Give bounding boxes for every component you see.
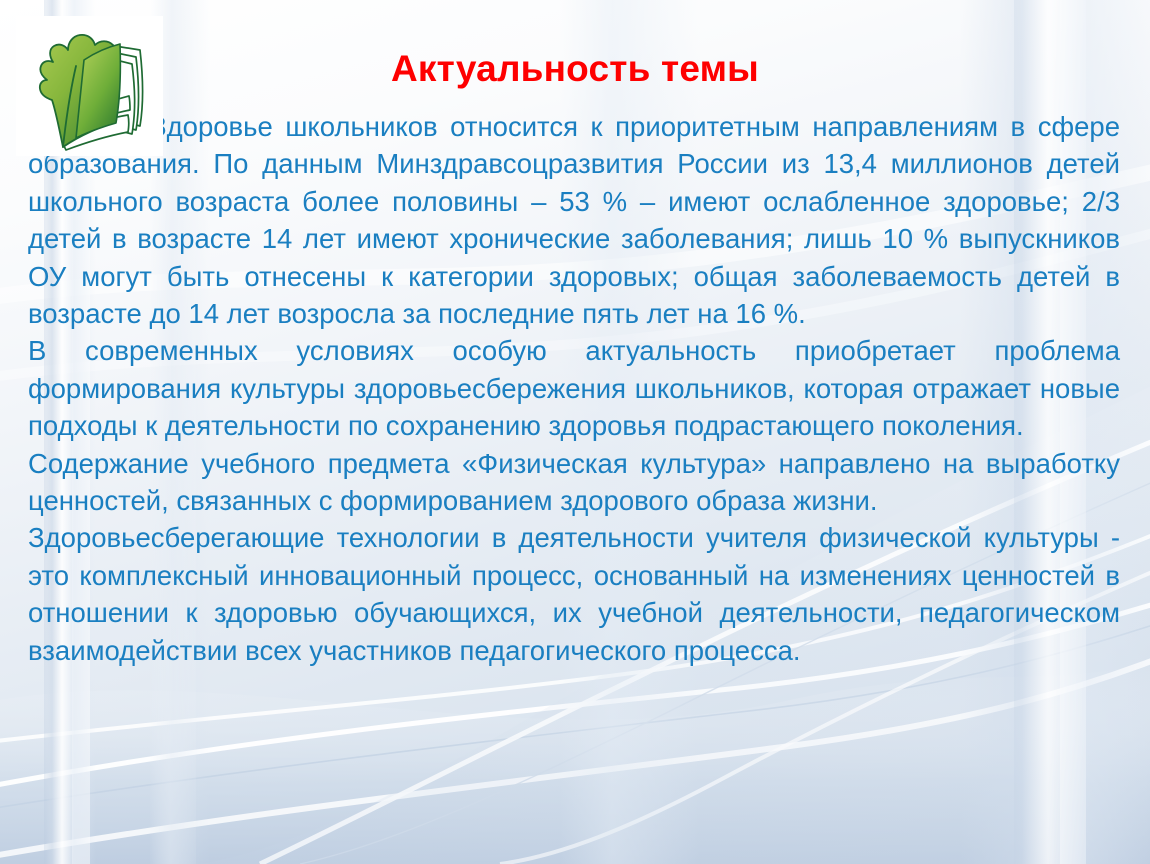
slide-body-text: Здоровье школьников относится к приорите… <box>28 108 1120 669</box>
paragraph-4: Здоровьесберегающие технологии в деятель… <box>28 519 1120 669</box>
presentation-slide: Актуальность темы Здоровье школьников от… <box>0 0 1150 864</box>
paragraph-1: Здоровье школьников относится к приорите… <box>28 108 1120 332</box>
paragraph-3: Содержание учебного предмета «Физическая… <box>28 445 1120 520</box>
page-title: Актуальность темы <box>180 50 970 89</box>
oak-leaf-book-logo <box>16 16 163 156</box>
logo-graphic <box>16 16 163 156</box>
paragraph-2: В современных условиях особую актуальнос… <box>28 332 1120 444</box>
